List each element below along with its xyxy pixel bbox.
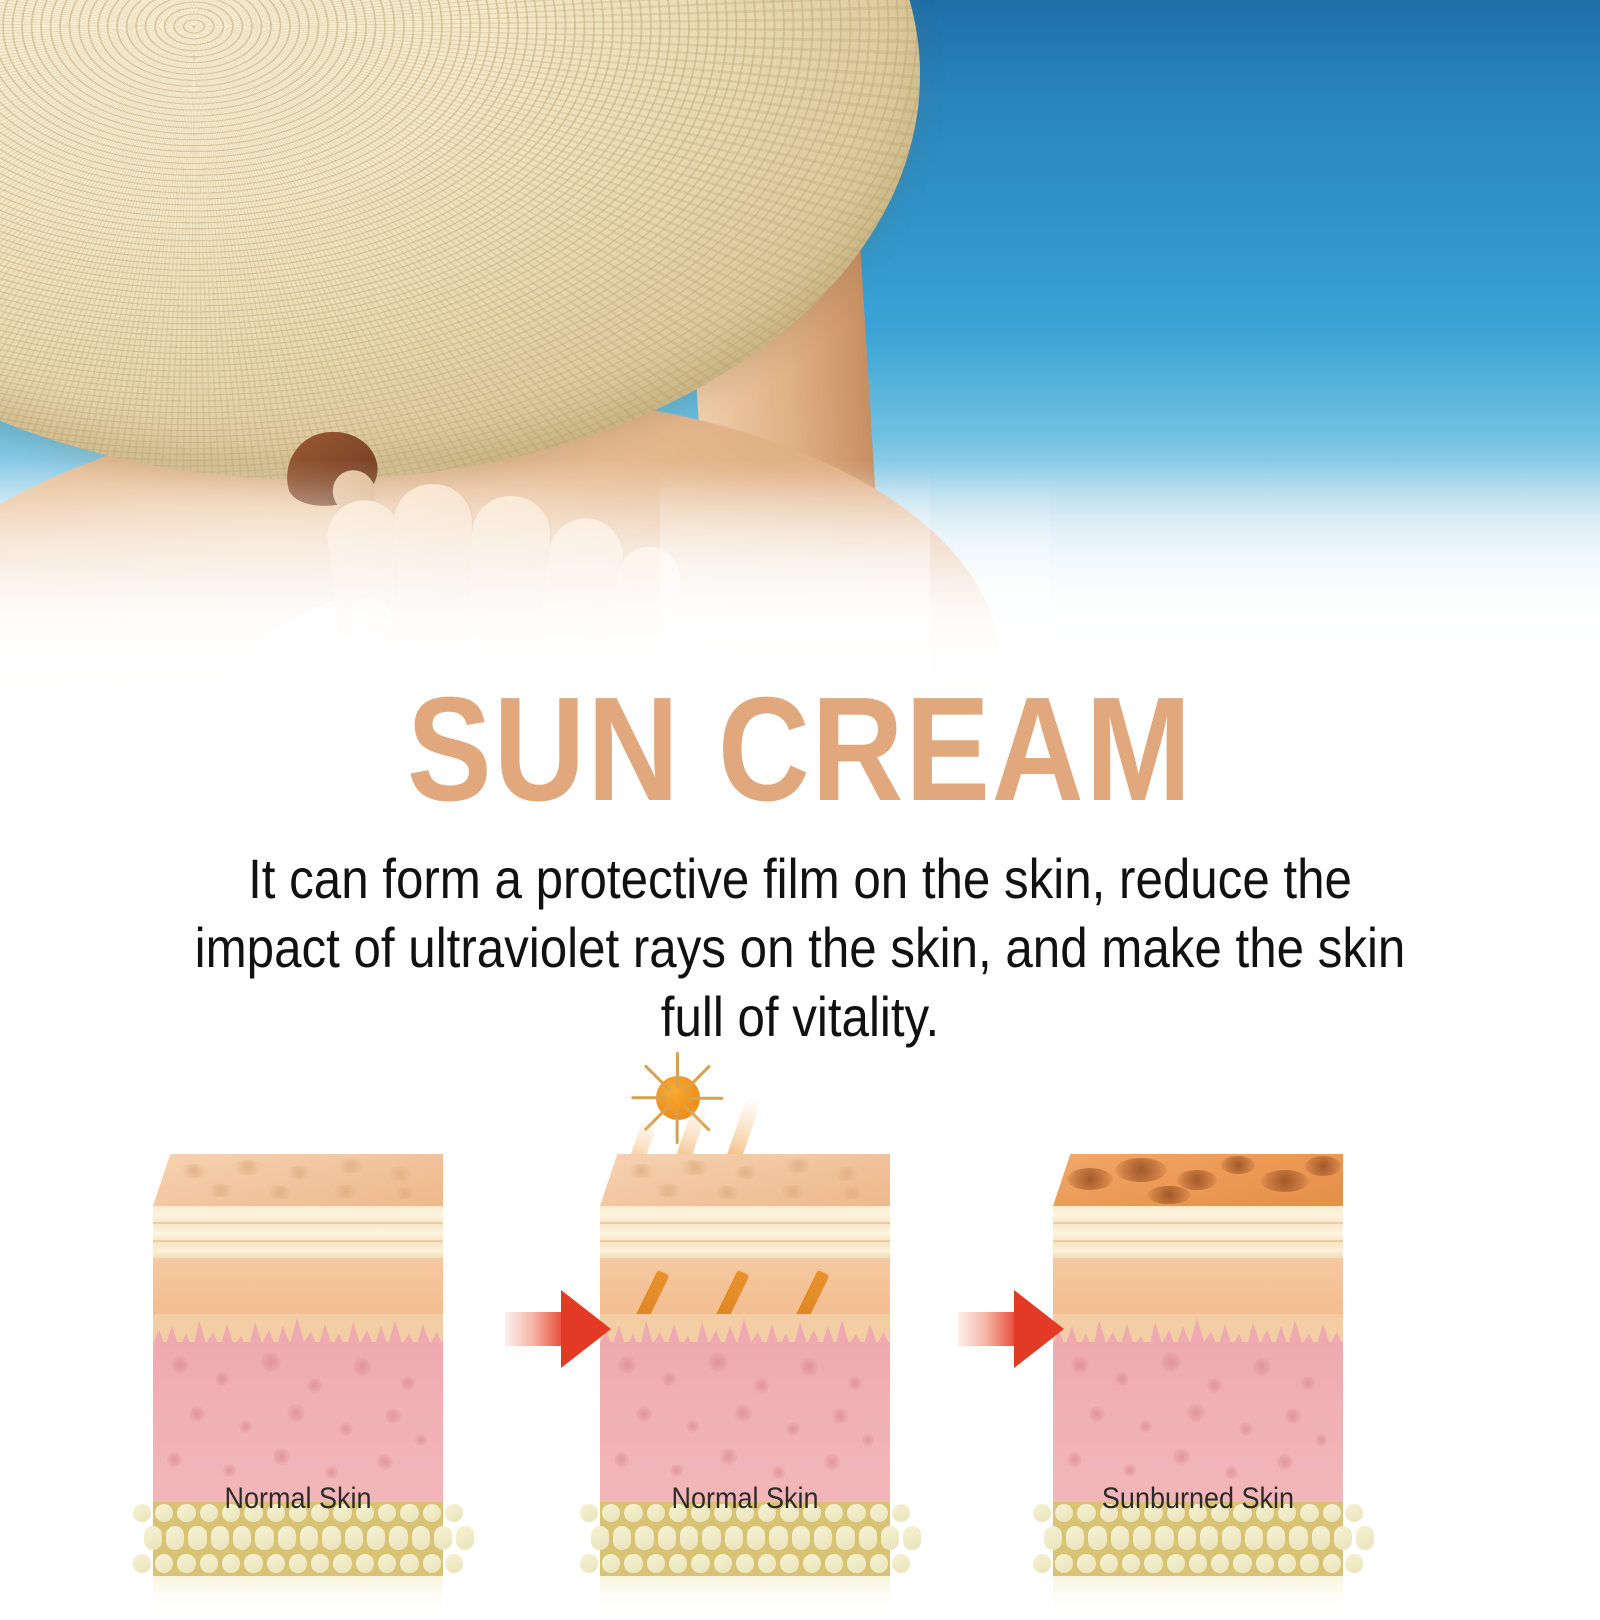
dermis-cell <box>662 1372 676 1386</box>
fat-cell <box>780 1554 798 1573</box>
panel-bottom-fade <box>600 1576 890 1620</box>
dermis-cell <box>307 1378 322 1393</box>
fat-cell <box>378 1554 396 1573</box>
pore <box>285 1166 313 1179</box>
fat-cell <box>635 1526 653 1550</box>
fat-cell <box>1323 1554 1341 1573</box>
fat-cell <box>669 1554 687 1573</box>
dermis-cell <box>415 1434 427 1446</box>
fat-cell <box>1267 1526 1285 1550</box>
dermis-cell <box>223 1464 236 1477</box>
sunburn-spot <box>1177 1170 1217 1190</box>
pore <box>626 1164 656 1178</box>
dermis-cell <box>772 1466 785 1479</box>
pore <box>385 1167 415 1181</box>
fat-cell <box>1167 1554 1185 1573</box>
fat-cell <box>400 1554 418 1573</box>
dermis-cell <box>686 1420 699 1433</box>
fat-cell <box>825 1554 843 1573</box>
fat-cell <box>591 1526 609 1550</box>
fat-cell <box>1200 1526 1218 1550</box>
fat-cell <box>244 1554 262 1573</box>
fat-cell <box>333 1554 351 1573</box>
arrow-shaft <box>958 1312 1020 1346</box>
pore <box>782 1159 814 1173</box>
fat-cell <box>300 1526 318 1550</box>
caption-sunburned-skin: Sunburned Skin <box>1036 1482 1360 1516</box>
dermis-cell <box>1277 1454 1293 1470</box>
fat-cell <box>792 1526 810 1550</box>
dermis-cell <box>377 1454 393 1470</box>
fat-cell <box>1334 1526 1352 1550</box>
dermis-cell <box>800 1358 818 1376</box>
fat-cell <box>1077 1554 1095 1573</box>
page-title: SUN CREAM <box>112 676 1488 824</box>
skin-panel-normal-left <box>153 1154 443 1484</box>
fat-cell <box>177 1554 195 1573</box>
fat-cell <box>836 1526 854 1550</box>
fat-cell <box>200 1554 218 1573</box>
sun-ray-spoke <box>631 1097 667 1100</box>
fat-cell <box>1133 1526 1151 1550</box>
fat-cell <box>133 1554 151 1573</box>
dermis-cell <box>618 1356 636 1374</box>
fat-cell <box>1211 1554 1229 1573</box>
fat-cell <box>1289 1526 1307 1550</box>
fat-cell <box>859 1526 877 1550</box>
pore <box>678 1160 712 1175</box>
fat-cell <box>1345 1554 1363 1573</box>
fat-cell <box>1033 1554 1051 1573</box>
fat-cell <box>144 1526 162 1550</box>
panel-bottom-fade <box>1053 1576 1343 1620</box>
sunburn-spot <box>1221 1156 1255 1174</box>
fat-cell <box>1312 1526 1330 1550</box>
fat-cell <box>892 1554 910 1573</box>
pore <box>329 1185 363 1198</box>
pore <box>838 1187 866 1199</box>
dermis-cell <box>636 1406 652 1422</box>
dermis-cell <box>353 1358 371 1376</box>
stratum-corneum-layer <box>153 1206 443 1258</box>
fat-cell <box>680 1526 698 1550</box>
dermis-cell <box>1301 1376 1315 1390</box>
dermis-cell <box>1115 1372 1129 1386</box>
transition-arrow-1 <box>505 1290 610 1368</box>
skin-surface-sunburned <box>1053 1154 1343 1206</box>
dermis-cell <box>401 1376 415 1390</box>
fat-cell <box>814 1526 832 1550</box>
fat-cell <box>278 1526 296 1550</box>
fat-cell <box>758 1554 776 1573</box>
dermis-cell <box>339 1422 353 1436</box>
pore <box>732 1166 760 1179</box>
sunburn-spot <box>1115 1158 1167 1182</box>
pore <box>776 1185 810 1198</box>
skin-cross-section-diagram <box>0 1060 1600 1600</box>
dermis-cell <box>325 1466 338 1479</box>
fat-cell <box>736 1554 754 1573</box>
dermis-cell <box>385 1408 401 1424</box>
page-description: It can form a protective film on the ski… <box>175 845 1425 1052</box>
pore <box>712 1186 742 1199</box>
fat-cell <box>255 1526 273 1550</box>
dermis-cell <box>670 1464 683 1477</box>
pore <box>832 1167 862 1181</box>
fat-cell <box>769 1526 787 1550</box>
dermis-layer <box>600 1342 890 1502</box>
dermis-cell <box>1285 1408 1301 1424</box>
fat-cell <box>456 1526 474 1550</box>
dermis-cell <box>1161 1352 1181 1372</box>
dermis-cell <box>1123 1464 1136 1477</box>
dermis-cell <box>754 1378 769 1393</box>
dermis-cell <box>824 1454 840 1470</box>
pore <box>231 1160 265 1175</box>
dermis-cell <box>1253 1358 1271 1376</box>
pore <box>205 1184 237 1197</box>
fat-cell <box>211 1526 229 1550</box>
arrow-shaft <box>505 1312 567 1346</box>
fat-cell <box>434 1526 452 1550</box>
arrow-head <box>561 1290 611 1368</box>
fat-cell <box>1356 1526 1374 1550</box>
fat-cell <box>702 1526 720 1550</box>
pore <box>265 1186 295 1199</box>
dermis-cell <box>171 1356 189 1374</box>
fat-cell <box>1044 1526 1062 1550</box>
fat-cell <box>389 1526 407 1550</box>
fat-cell <box>1189 1554 1207 1573</box>
sunburn-spot <box>1147 1186 1191 1204</box>
fat-cell <box>267 1554 285 1573</box>
transition-arrow-2 <box>958 1290 1063 1368</box>
fat-cell <box>803 1554 821 1573</box>
fat-cell <box>613 1526 631 1550</box>
fat-cell <box>580 1554 598 1573</box>
fat-cell <box>1111 1526 1129 1550</box>
dermis-cell <box>862 1434 874 1446</box>
fat-cell <box>1300 1554 1318 1573</box>
fat-cell <box>423 1554 441 1573</box>
fat-cell <box>1055 1554 1073 1573</box>
dermis-cell <box>832 1408 848 1424</box>
dermis-cell <box>1173 1448 1190 1465</box>
dermis-cell <box>1139 1420 1152 1433</box>
fat-cell <box>747 1526 765 1550</box>
pore <box>391 1187 419 1199</box>
sun-ray-spoke <box>676 1052 679 1088</box>
fat-cell <box>289 1554 307 1573</box>
fat-cell <box>647 1554 665 1573</box>
dermis-cell <box>786 1422 800 1436</box>
fat-cell <box>1155 1526 1173 1550</box>
fat-cell <box>602 1554 620 1573</box>
fat-cell <box>1278 1554 1296 1573</box>
dermis-cell <box>273 1448 290 1465</box>
fat-cell <box>658 1526 676 1550</box>
arrow-head <box>1014 1290 1064 1368</box>
dermis-cell <box>614 1452 629 1467</box>
caption-normal-skin-left: Normal Skin <box>136 1482 460 1516</box>
fat-cell <box>1100 1554 1118 1573</box>
fat-cell <box>1256 1554 1274 1573</box>
fat-cell <box>356 1554 374 1573</box>
fat-cell <box>311 1554 329 1573</box>
stratum-corneum-layer <box>1053 1206 1343 1258</box>
pore <box>335 1159 367 1173</box>
pore <box>179 1164 209 1178</box>
fat-cell <box>624 1554 642 1573</box>
stratum-corneum-layer <box>600 1206 890 1258</box>
fat-cell <box>870 1554 888 1573</box>
skin-panel-uv-exposed <box>600 1154 890 1484</box>
sunburn-spot <box>1067 1168 1113 1190</box>
fat-cell <box>1122 1554 1140 1573</box>
hero-photo <box>0 0 1600 700</box>
fat-cell <box>222 1554 240 1573</box>
fat-cell <box>1233 1554 1251 1573</box>
dermis-cell <box>239 1420 252 1433</box>
dermis-cell <box>1067 1452 1082 1467</box>
dermis-cell <box>1207 1378 1222 1393</box>
dermis-cell <box>734 1404 752 1422</box>
fat-cell <box>367 1526 385 1550</box>
fat-cell <box>1088 1526 1106 1550</box>
dermis-cell <box>708 1352 728 1372</box>
dermis-cell <box>215 1372 229 1386</box>
dermis-cell <box>848 1376 862 1390</box>
fat-cell <box>412 1526 430 1550</box>
dermis-cell <box>189 1406 205 1422</box>
fat-cell <box>155 1554 173 1573</box>
sun-ray-spoke <box>687 1097 723 1100</box>
caption-normal-skin-uv: Normal Skin <box>583 1482 907 1516</box>
fat-cell <box>691 1554 709 1573</box>
dermis-cell <box>167 1452 182 1467</box>
dermis-cell <box>261 1352 281 1372</box>
fat-cell <box>903 1526 921 1550</box>
skin-surface <box>153 1154 443 1206</box>
skin-surface <box>600 1154 890 1206</box>
dermis-cell <box>1187 1404 1205 1422</box>
sun-ray-spoke <box>676 1108 679 1144</box>
fat-cell <box>1245 1526 1263 1550</box>
fat-cell <box>345 1526 363 1550</box>
fat-cell <box>166 1526 184 1550</box>
fat-cell <box>847 1554 865 1573</box>
fat-cell <box>881 1526 899 1550</box>
fat-cell <box>188 1526 206 1550</box>
dermis-layer <box>153 1342 443 1502</box>
fat-cell <box>1178 1526 1196 1550</box>
sunburn-spot <box>1305 1156 1341 1176</box>
sunburn-spot <box>1261 1170 1309 1192</box>
fat-cell <box>1144 1554 1162 1573</box>
dermis-cell <box>1089 1406 1105 1422</box>
dermis-cell <box>1225 1466 1238 1479</box>
dermis-cell <box>720 1448 737 1465</box>
fat-cell <box>322 1526 340 1550</box>
fat-cell <box>233 1526 251 1550</box>
fat-cell <box>445 1554 463 1573</box>
dermis-cell <box>1315 1434 1327 1446</box>
fat-cell <box>1222 1526 1240 1550</box>
fat-cell <box>1066 1526 1084 1550</box>
fat-cell <box>714 1554 732 1573</box>
pore <box>652 1184 684 1197</box>
fat-cell <box>725 1526 743 1550</box>
dermis-cell <box>1239 1422 1253 1436</box>
hero-bottom-fade <box>0 460 1600 700</box>
dermis-layer <box>1053 1342 1343 1502</box>
dermis-cell <box>1071 1356 1089 1374</box>
dermis-cell <box>287 1404 305 1422</box>
panel-bottom-fade <box>153 1576 443 1620</box>
skin-panel-sunburned <box>1053 1154 1343 1484</box>
